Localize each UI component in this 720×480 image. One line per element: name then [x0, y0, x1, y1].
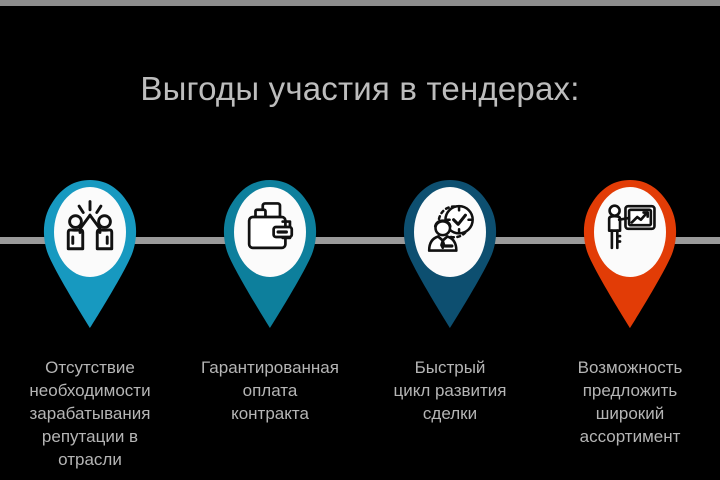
- pin-caption-1: Отсутствие необходимости зарабатывания р…: [0, 356, 180, 471]
- pin-cell-3: [360, 170, 540, 345]
- top-accent-bar: [0, 0, 720, 6]
- pin-caption-4: Возможность предложить широкий ассортиме…: [540, 356, 720, 471]
- pins-row: [0, 170, 720, 345]
- pin-cell-4: [540, 170, 720, 345]
- presenter-chart-icon: [601, 198, 659, 256]
- page-title: Выгоды участия в тендерах:: [0, 70, 720, 108]
- pin-caption-3: Быстрый цикл развития сделки: [360, 356, 540, 471]
- pin-caption-2: Гарантированная оплата контракта: [180, 356, 360, 471]
- pin-cell-2: [180, 170, 360, 345]
- slide-canvas: Выгоды участия в тендерах:: [0, 0, 720, 480]
- businessman-clock-icon: [421, 198, 479, 256]
- high-five-people-icon: [61, 198, 119, 256]
- captions-row: Отсутствие необходимости зарабатывания р…: [0, 356, 720, 471]
- wallet-icon: [241, 198, 299, 256]
- pin-cell-1: [0, 170, 180, 345]
